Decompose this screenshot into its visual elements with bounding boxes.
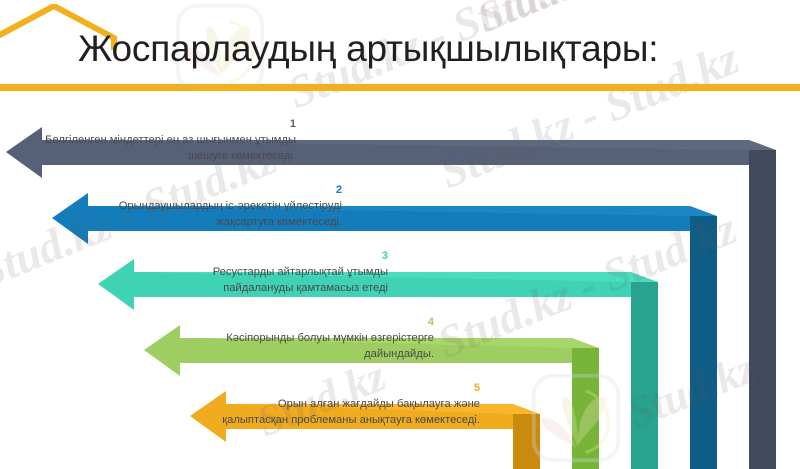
item-number: 2: [336, 184, 342, 196]
item-text: Белгіленген міндеттері ең аз шығынмен ұт…: [45, 133, 296, 164]
item-number: 4: [428, 316, 434, 328]
item-number: 3: [382, 250, 388, 262]
item-number: 1: [290, 118, 296, 130]
item-text: Кәсіпорынды болуы мүмкін өзгерістерге да…: [226, 331, 434, 362]
page-title: Жоспарлаудың артықшылықтары:: [78, 18, 658, 80]
slide-header: Жоспарлаудың артықшылықтары:: [0, 0, 800, 92]
item-text: Орын алған жағдайды бақылауға және қалып…: [222, 397, 480, 428]
header-rule: [0, 84, 800, 91]
item-number: 5: [474, 382, 480, 394]
item-text: Ресустарды айтарлықтай ұтымды пайдалануд…: [213, 265, 388, 296]
item-text: Орындаушылардың іс-әрекетін үйлестіруді …: [119, 199, 342, 230]
slide-canvas: Stud.kz Stud.kz - Stud.kz Stud.kz - Stud…: [0, 0, 800, 469]
item-labels: 1 Белгіленген міндеттері ең аз шығынмен …: [0, 92, 800, 469]
